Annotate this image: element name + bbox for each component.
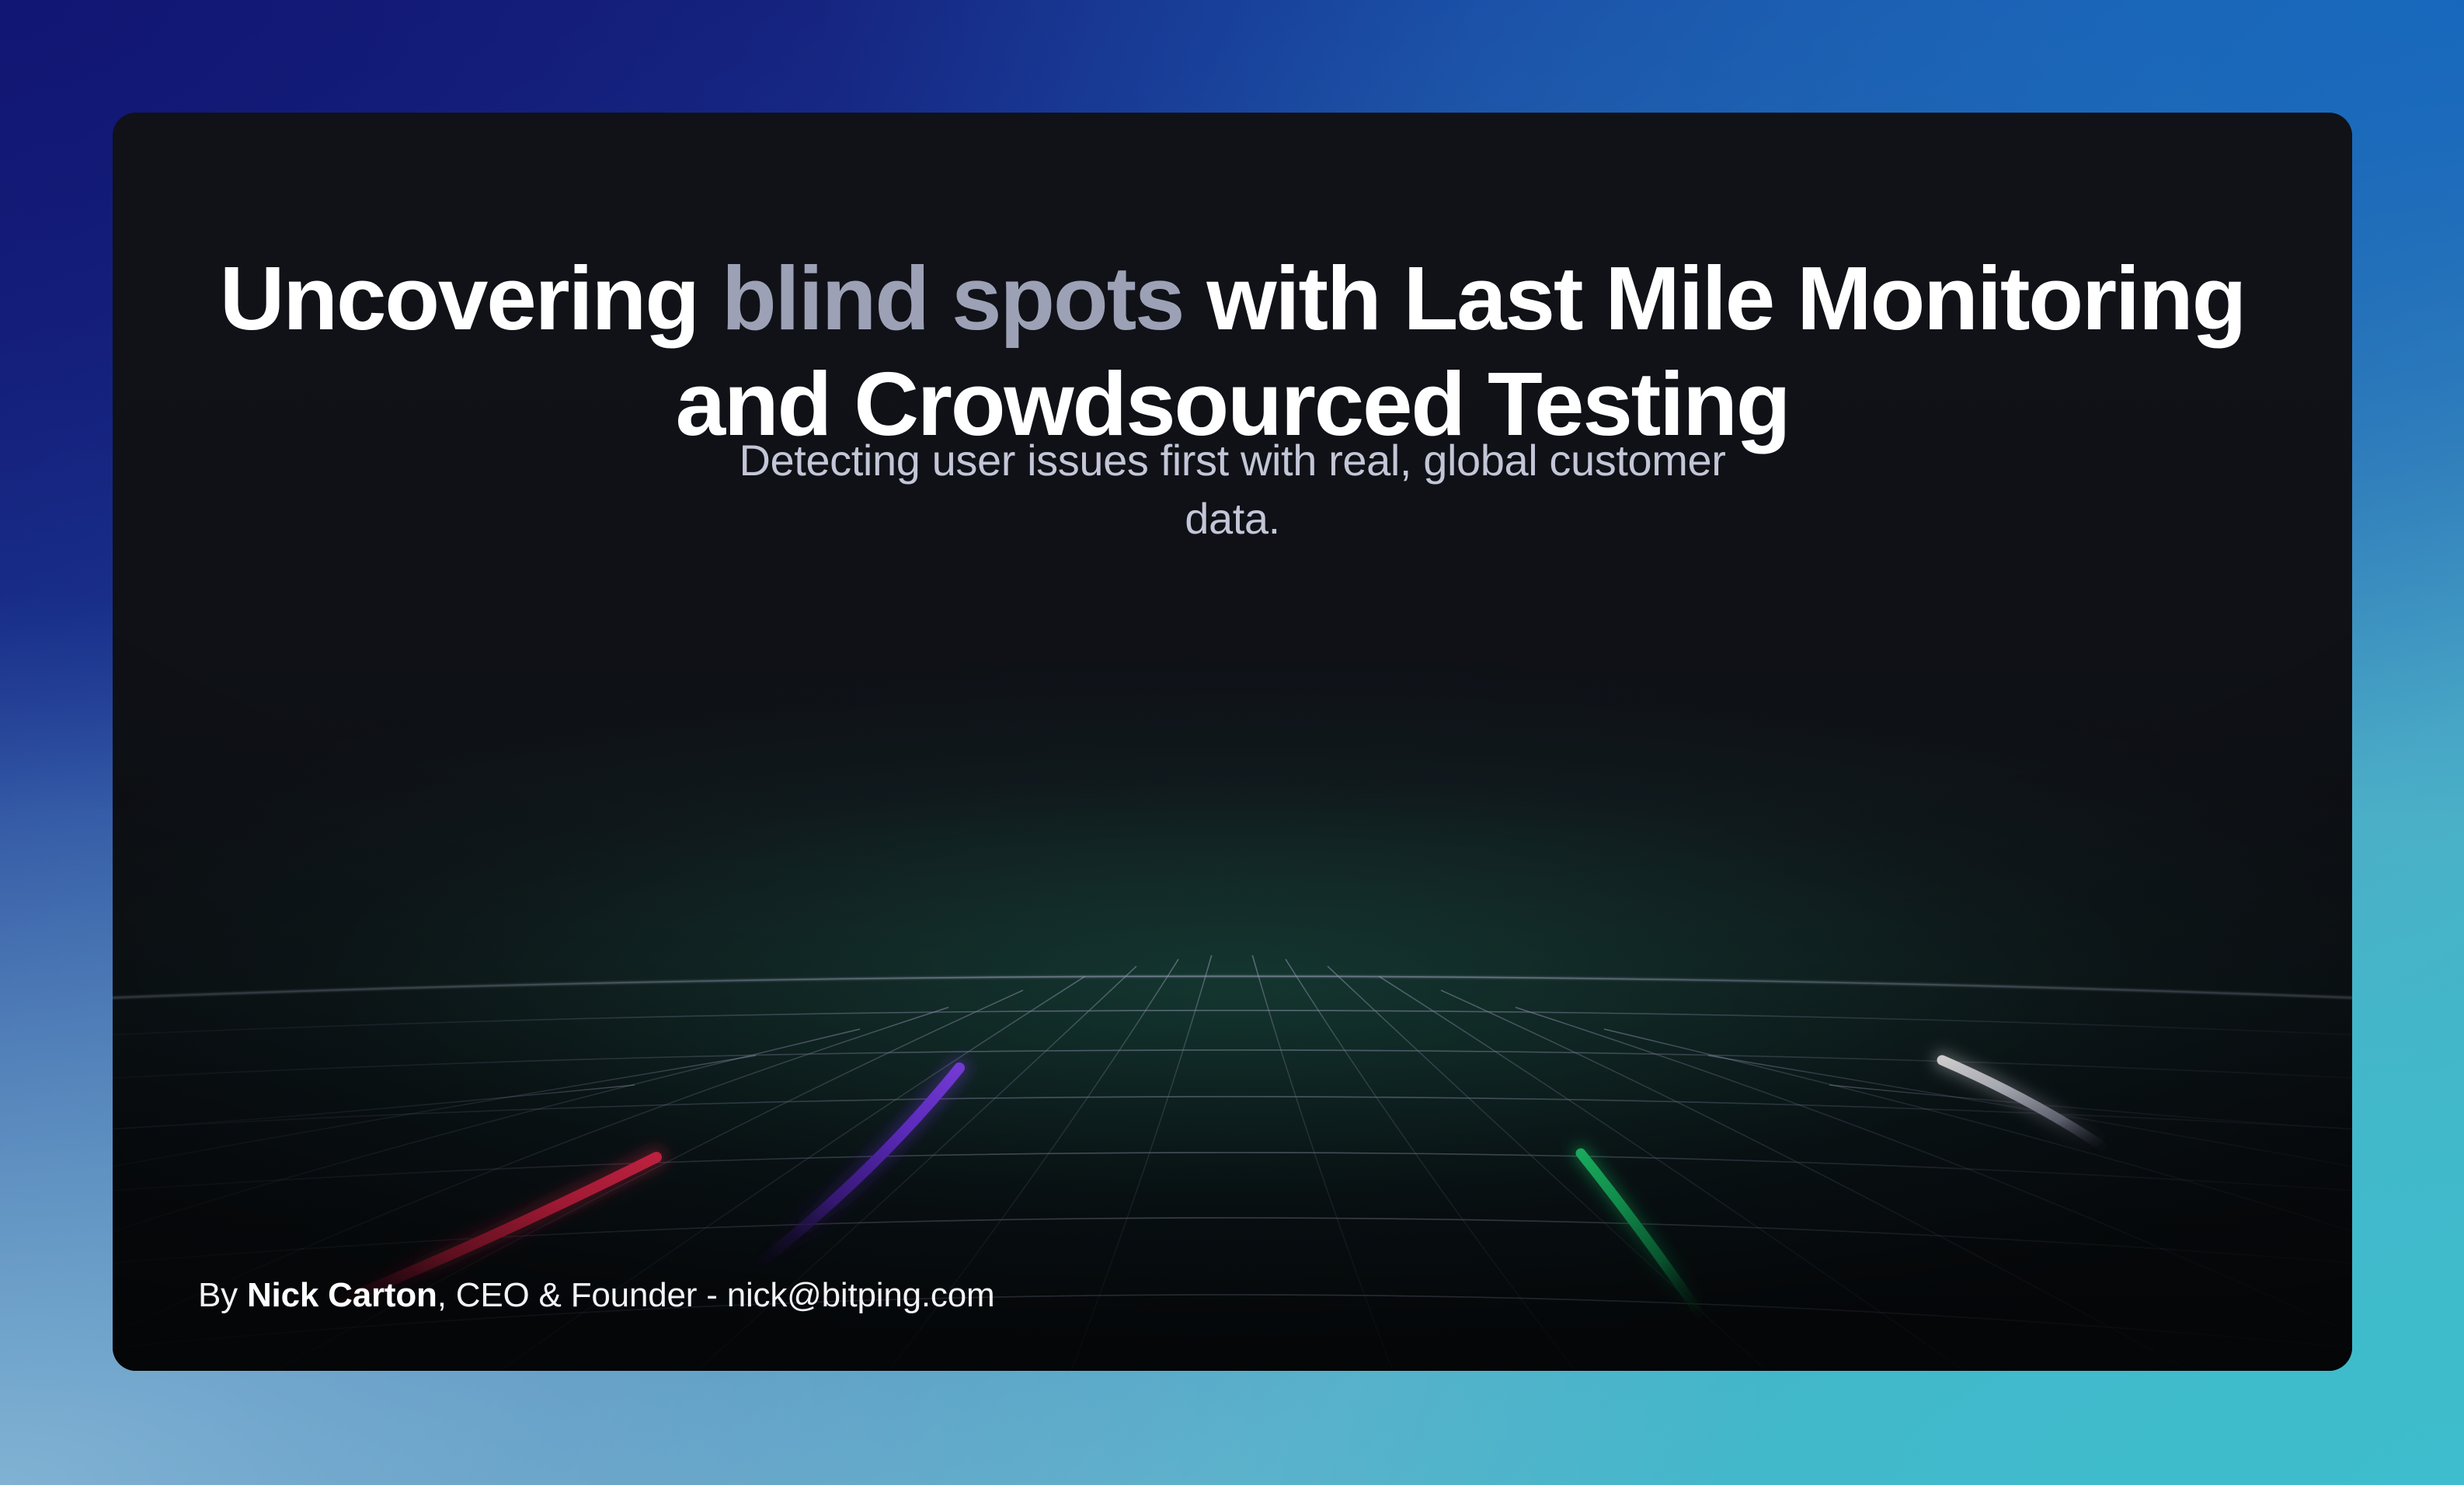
byline-prefix: By bbox=[198, 1276, 247, 1314]
slide-subtitle: Detecting user issues first with real, g… bbox=[113, 431, 2352, 548]
headline-before: Uncovering bbox=[220, 248, 722, 349]
slide-card: Uncovering blind spots with Last Mile Mo… bbox=[113, 113, 2352, 1371]
slide-backdrop: Uncovering blind spots with Last Mile Mo… bbox=[0, 0, 2464, 1485]
byline: By Nick Carton, CEO & Founder - nick@bit… bbox=[198, 1276, 994, 1315]
slide-text-layer: Uncovering blind spots with Last Mile Mo… bbox=[113, 113, 2352, 1371]
headline-highlight: blind spots bbox=[722, 248, 1183, 349]
byline-author: Nick Carton bbox=[247, 1276, 437, 1314]
byline-suffix: , CEO & Founder - nick@bitping.com bbox=[437, 1276, 995, 1314]
page-title: Uncovering blind spots with Last Mile Mo… bbox=[113, 246, 2352, 457]
